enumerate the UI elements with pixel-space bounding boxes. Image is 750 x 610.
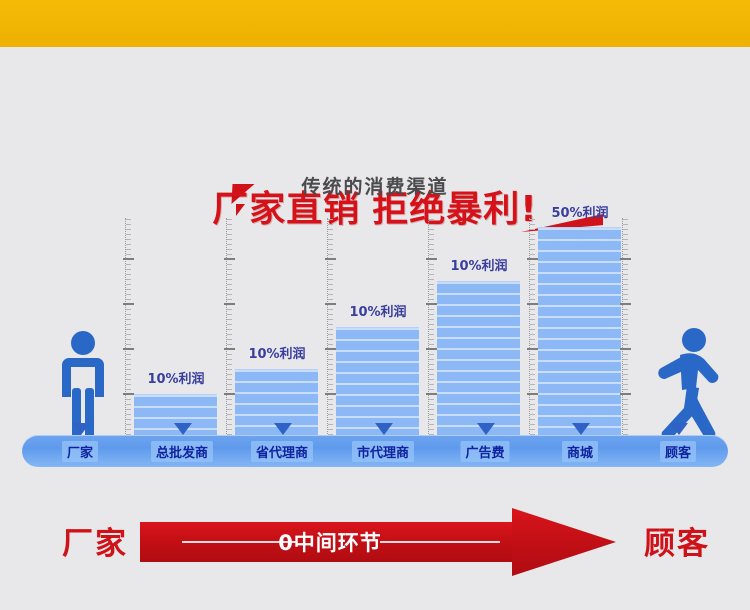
- headline-section: 厂家直销拒绝暴利!: [0, 88, 750, 148]
- rail-pointer-3: [375, 423, 393, 435]
- avatar-customer: [648, 328, 728, 440]
- rail-pointer-2: [274, 423, 292, 435]
- bar-label-total-wholesaler: 10%利润: [116, 368, 236, 387]
- arrow-head-icon: [512, 508, 616, 576]
- rail-label-advertising-cost[interactable]: 广告费: [460, 441, 509, 462]
- rail-label-total-wholesaler[interactable]: 总批发商: [151, 441, 213, 462]
- bar-label-advertising-cost: 10%利润: [419, 255, 539, 274]
- rail-pointer-4: [477, 423, 495, 435]
- top-gold-band: [0, 0, 750, 47]
- footer-label-customer: 顾客: [644, 518, 710, 563]
- chart-subtitle: 传统的消费渠道: [0, 172, 750, 199]
- zero-middleman-arrow: 0中间环节: [140, 508, 615, 576]
- ruler-6: [622, 218, 631, 440]
- infographic-page: 厂家直销拒绝暴利! 传统的消费渠道 10%利润 10%利润 10%利润 10%利…: [0, 0, 750, 610]
- ruler-3: [327, 218, 336, 440]
- footer-label-manufacturer: 厂家: [62, 518, 128, 563]
- rail-pointer-1: [174, 423, 192, 435]
- ruler-4: [428, 218, 437, 440]
- bar-mall: [538, 227, 621, 440]
- ruler-2: [226, 218, 235, 440]
- ruler-1: [125, 218, 134, 440]
- arrow-text: 0中间环节: [140, 522, 520, 562]
- rail-label-province-agent[interactable]: 省代理商: [251, 441, 313, 462]
- rail-pointer-0: [72, 423, 90, 435]
- bar-advertising-cost: [437, 281, 520, 440]
- channel-rail: 厂家 总批发商 省代理商 市代理商 广告费 商城 顾客: [22, 435, 728, 467]
- rail-pointer-5: [572, 423, 590, 435]
- rail-label-customer[interactable]: 顾客: [660, 441, 696, 462]
- bar-label-province-agent: 10%利润: [217, 343, 337, 362]
- rail-pointer-6: [670, 423, 688, 435]
- channel-bar-chart: 10%利润 10%利润 10%利润 10%利润 50%利润: [0, 200, 750, 440]
- footer-banner: 厂家 0中间环节 顾客: [0, 500, 750, 590]
- rail-label-mall[interactable]: 商城: [562, 441, 598, 462]
- rail-label-city-agent[interactable]: 市代理商: [352, 441, 414, 462]
- rail-label-manufacturer[interactable]: 厂家: [62, 441, 98, 462]
- bar-label-city-agent: 10%利润: [318, 301, 438, 320]
- ruler-5: [529, 218, 538, 440]
